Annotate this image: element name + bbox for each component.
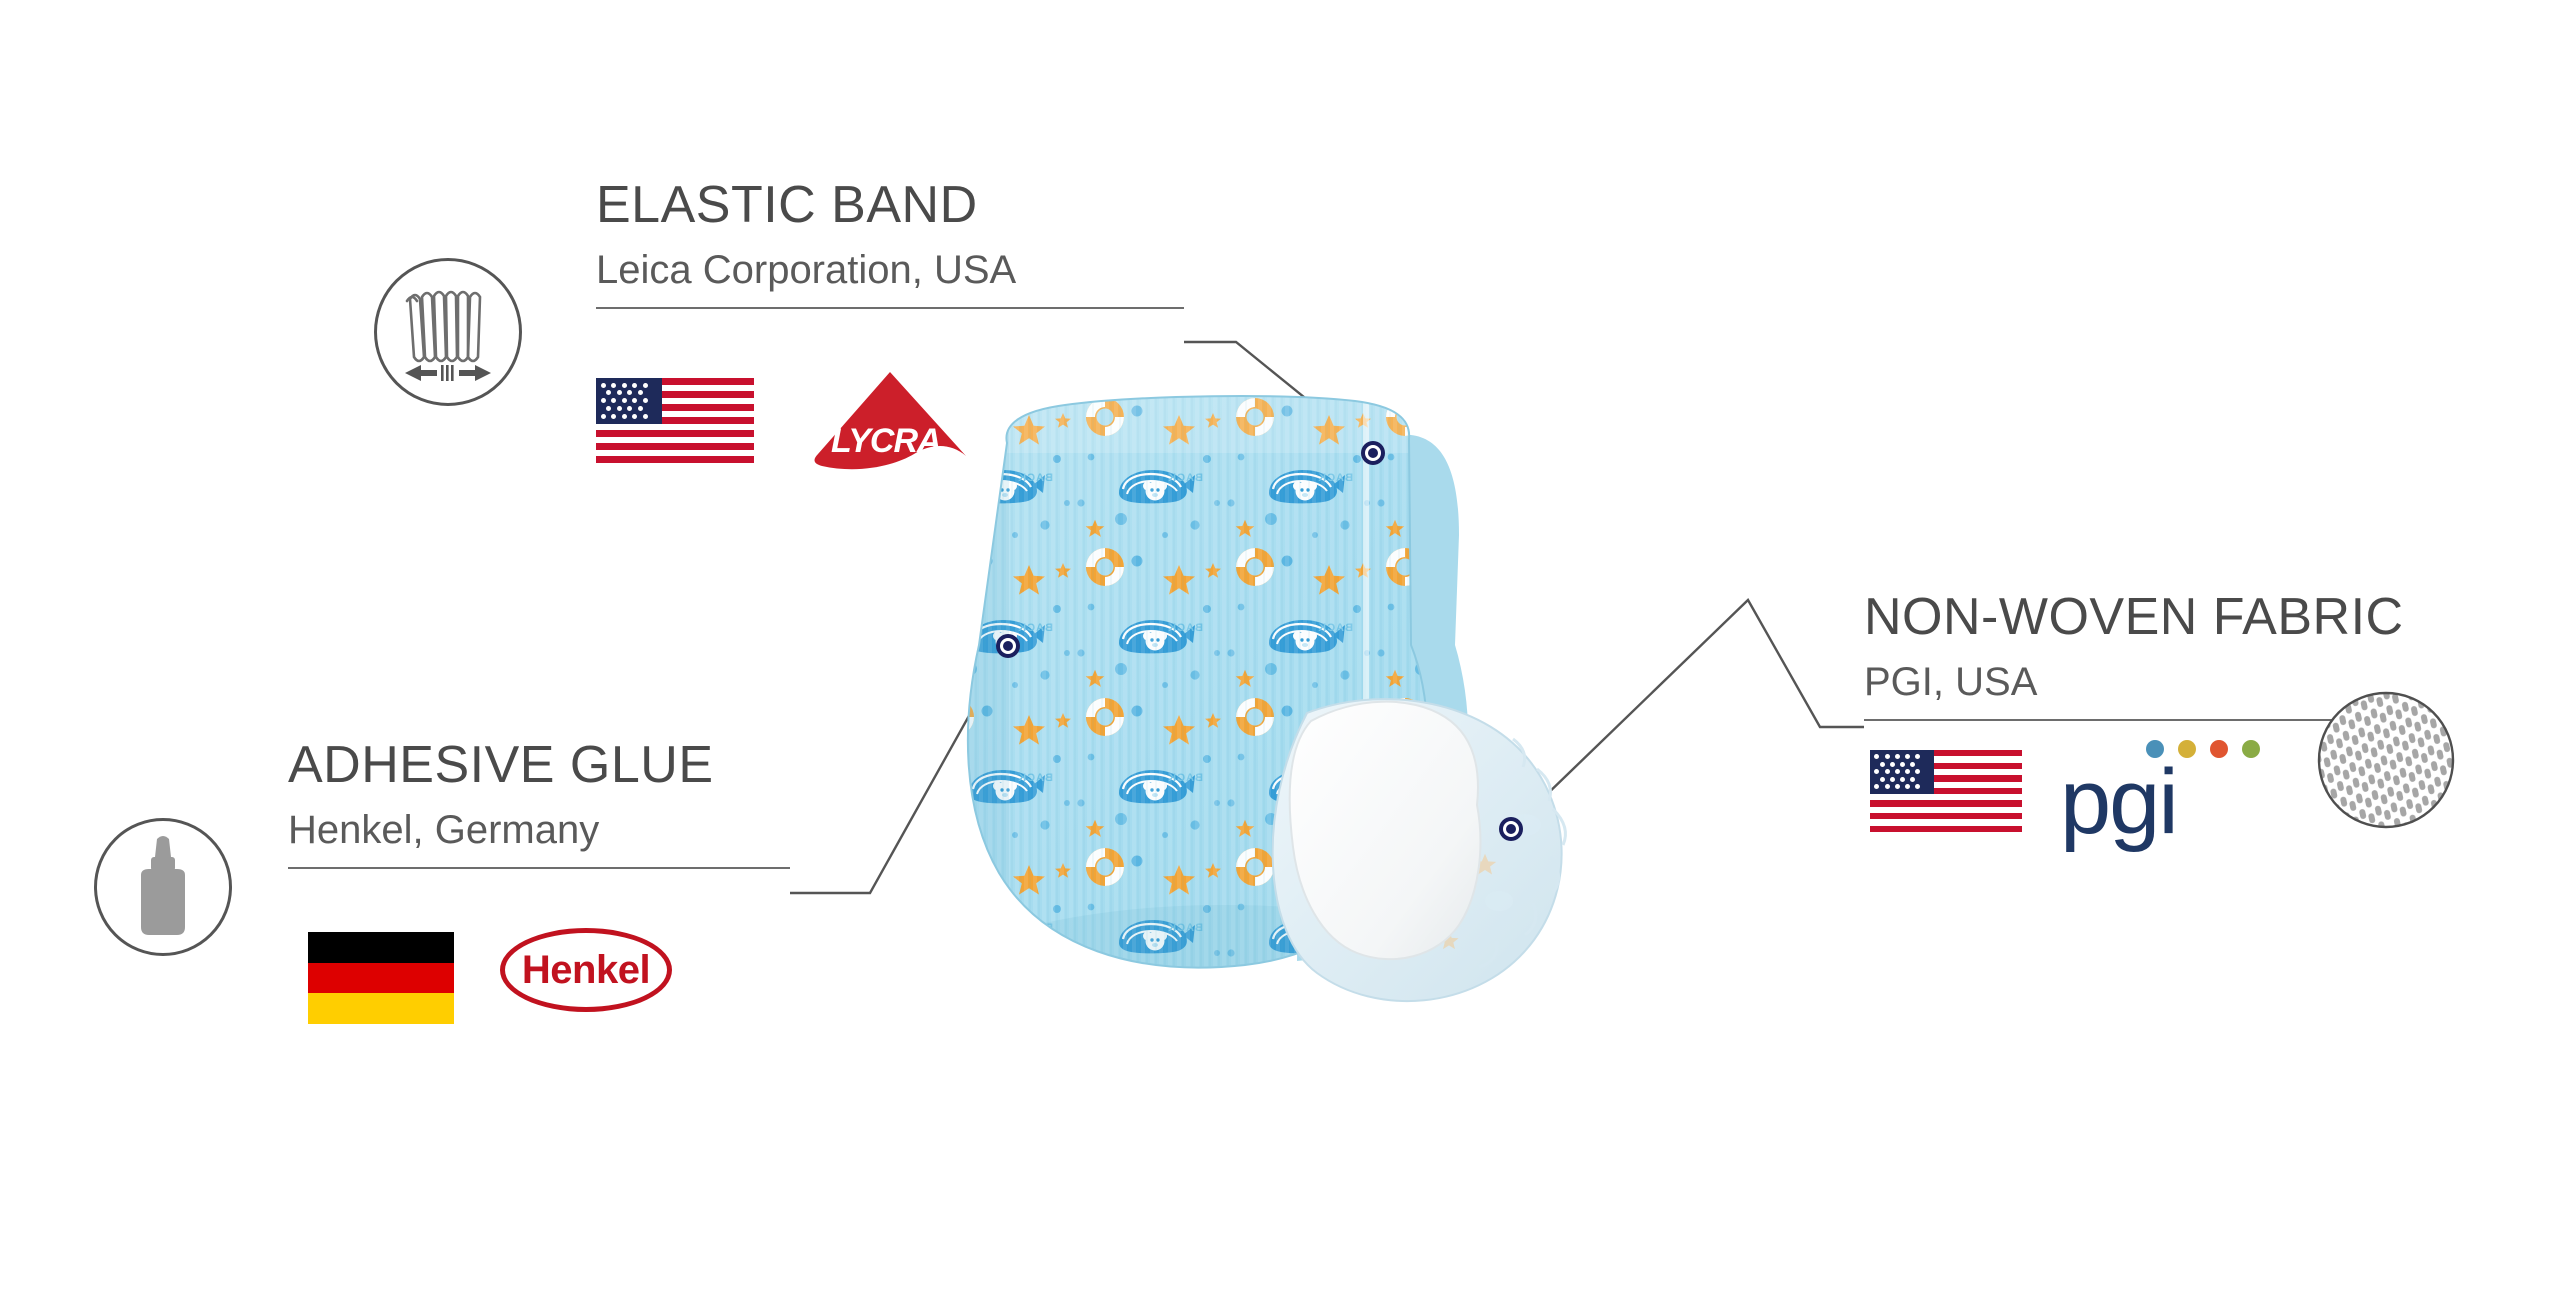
callout-title: ADHESIVE GLUE — [288, 738, 790, 793]
callout-supplier: Leica Corporation, USA — [596, 243, 1184, 297]
henkel-wordmark: Henkel — [500, 928, 672, 1012]
callout-title: ELASTIC BAND — [596, 178, 1184, 233]
marker-adhesive-glue[interactable] — [992, 630, 1024, 662]
pgi-dot-orange — [2210, 740, 2228, 758]
callout-elastic-band: ELASTIC BAND Leica Corporation, USA — [596, 178, 1184, 309]
us-flag — [1870, 750, 2022, 832]
marker-elastic-band[interactable] — [1357, 437, 1389, 469]
flag-canton — [1870, 750, 1934, 794]
germany-flag — [308, 932, 454, 1024]
callout-adhesive-glue: ADHESIVE GLUE Henkel, Germany — [288, 738, 790, 869]
flag-canton — [596, 378, 662, 424]
pgi-logo: pgi — [2060, 740, 2270, 860]
diaper-illustration: BACK — [925, 395, 1685, 1095]
callout-rule — [596, 307, 1184, 309]
mesh-fabric-icon — [2316, 690, 2456, 830]
henkel-logo: Henkel — [500, 928, 672, 1012]
glue-bottle-icon — [94, 818, 232, 956]
callout-title: NON-WOVEN FABRIC — [1864, 590, 2508, 645]
infographic-stage: BACK — [0, 0, 2560, 1300]
marker-non-woven-fabric[interactable] — [1495, 813, 1527, 845]
lycra-logo: LYCRA. — [810, 370, 970, 480]
callout-rule — [288, 867, 790, 869]
lycra-wordmark: LYCRA. — [810, 422, 970, 461]
pgi-wordmark: pgi — [2060, 756, 2177, 848]
pgi-dot-green — [2242, 740, 2260, 758]
us-flag — [596, 378, 754, 463]
pleated-elastic-icon — [374, 258, 522, 406]
pgi-dot-gold — [2178, 740, 2196, 758]
callout-supplier: Henkel, Germany — [288, 803, 790, 857]
